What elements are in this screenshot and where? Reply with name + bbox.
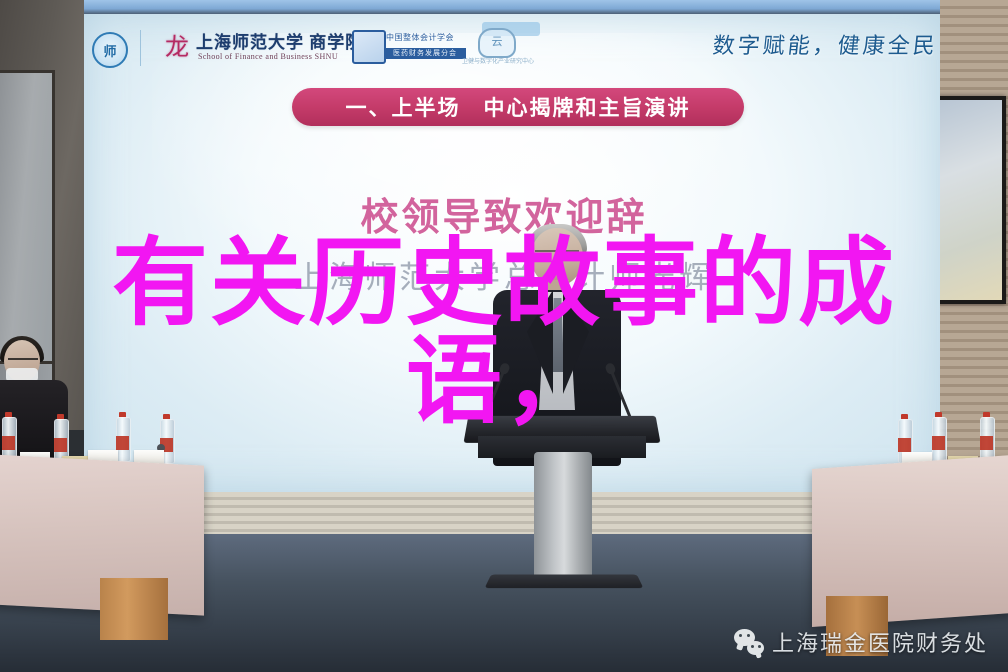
university-name: 上海师范大学 商学院 (196, 28, 366, 53)
water-bottle (932, 412, 945, 460)
attendee-glasses (8, 358, 38, 367)
speaker-glasses (535, 250, 579, 261)
wechat-icon (734, 629, 764, 655)
left-table-leg (100, 578, 168, 640)
podium-base (485, 575, 644, 589)
association-subname: 医药财务发展分会 (384, 48, 466, 59)
podium-column (534, 452, 592, 582)
university-name-en: School of Finance and Business SHNU (198, 52, 378, 61)
dragon-icon: 龙 (160, 32, 194, 64)
slide-slogan: 数字赋能，健康全民 (711, 28, 939, 60)
association-logo-icon (352, 30, 386, 64)
association-name: 中国整体会计学会 (386, 32, 464, 42)
bottle-label (2, 436, 15, 450)
bottle-label (116, 436, 129, 450)
cloud-logo-icon: 云 (478, 28, 516, 58)
bottle-label (980, 436, 993, 450)
water-bottle (2, 412, 15, 460)
logo-divider (140, 30, 141, 66)
university-seal-icon: 师 (92, 32, 128, 68)
bottle-label (932, 436, 945, 450)
watermark-label: 上海瑞金医院财务处 (772, 626, 988, 658)
water-bottle (980, 412, 993, 460)
screenshot-root: 师 龙 上海师范大学 商学院 School of Finance and Bus… (0, 0, 1008, 672)
water-bottle (54, 414, 67, 462)
watermark: 上海瑞金医院财务处 (734, 626, 988, 658)
cloud-logo-caption: 卫健与数字化产业研究中心 (462, 56, 532, 65)
section-banner: 一、上半场 中心揭牌和主旨演讲 (292, 88, 744, 126)
bottle-label (898, 438, 911, 452)
bottle-label (54, 438, 67, 452)
